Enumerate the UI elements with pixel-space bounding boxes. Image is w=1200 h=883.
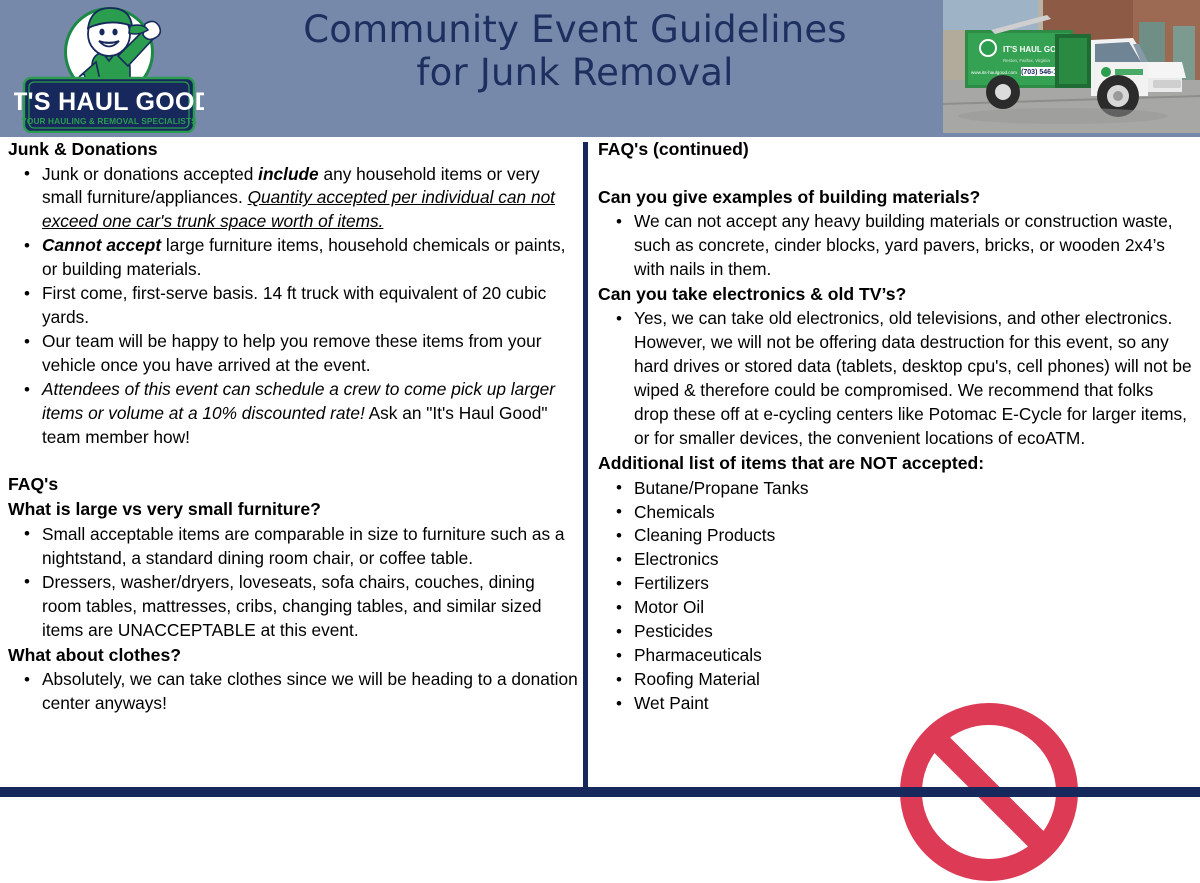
bottom-rule <box>0 787 1200 797</box>
text: Junk or donations accepted <box>42 164 258 184</box>
bold-italic-text: include <box>258 164 319 184</box>
faq-answer-list: Small acceptable items are comparable in… <box>8 523 578 643</box>
list-item: Junk or donations accepted include any h… <box>42 163 578 235</box>
company-logo: IT'S HAUL GOOD YOUR HAULING & REMOVAL SP… <box>14 0 204 133</box>
list-item: Attendees of this event can schedule a c… <box>42 378 578 450</box>
not-accepted-list: Butane/Propane TanksChemicalsCleaning Pr… <box>598 477 1192 717</box>
list-item: Cannot accept large furniture items, hou… <box>42 234 578 282</box>
page-title-line-2: for Junk Removal <box>210 51 940 94</box>
content-area: Junk & Donations Junk or donations accep… <box>0 137 1200 792</box>
list-item: Our team will be happy to help you remov… <box>42 330 578 378</box>
list-item: Cleaning Products <box>634 524 1192 548</box>
text: Our team will be happy to help you remov… <box>42 331 541 375</box>
junk-donations-list: Junk or donations accepted include any h… <box>8 163 578 450</box>
svg-text:YOUR HAULING & REMOVAL SPECIAL: YOUR HAULING & REMOVAL SPECIALISTS <box>21 116 197 126</box>
right-faq-group: Can you give examples of building materi… <box>598 185 1192 452</box>
list-item: Small acceptable items are comparable in… <box>42 523 578 571</box>
right-column: FAQ's (continued) Can you give examples … <box>598 137 1192 716</box>
faq-question: What about clothes? <box>8 643 578 669</box>
list-item: Butane/Propane Tanks <box>634 477 1192 501</box>
faq-answer-list: Yes, we can take old electronics, old te… <box>598 307 1192 451</box>
faq-answer-list: We can not accept any heavy building mat… <box>598 210 1192 282</box>
list-item: Pesticides <box>634 620 1192 644</box>
right-spacer <box>598 163 1192 185</box>
faq-question: What is large vs very small furniture? <box>8 497 578 523</box>
page-title-line-1: Community Event Guidelines <box>210 8 940 51</box>
page-header: IT'S HAUL GOOD YOUR HAULING & REMOVAL SP… <box>0 0 1200 137</box>
list-item: Chemicals <box>634 501 1192 525</box>
svg-text:www.its-haulgood.com: www.its-haulgood.com <box>971 70 1017 75</box>
left-faq-group: What is large vs very small furniture?Sm… <box>8 497 578 716</box>
left-column: Junk & Donations Junk or donations accep… <box>8 137 578 716</box>
list-item: First come, first-serve basis. 14 ft tru… <box>42 282 578 330</box>
list-item: We can not accept any heavy building mat… <box>634 210 1192 282</box>
list-item: Absolutely, we can take clothes since we… <box>42 668 578 716</box>
column-divider <box>583 142 588 790</box>
list-item: Electronics <box>634 548 1192 572</box>
text: First come, first-serve basis. 14 ft tru… <box>42 283 546 327</box>
faq-continued-heading: FAQ's (continued) <box>598 137 1192 163</box>
not-accepted-heading: Additional list of items that are NOT ac… <box>598 451 1192 477</box>
list-item: Yes, we can take old electronics, old te… <box>634 307 1192 451</box>
faq-answer-list: Absolutely, we can take clothes since we… <box>8 668 578 716</box>
faq-heading: FAQ's <box>8 472 578 498</box>
svg-text:IT'S HAUL GOOD: IT'S HAUL GOOD <box>14 88 204 116</box>
list-item: Roofing Material <box>634 668 1192 692</box>
left-spacer <box>8 450 578 472</box>
page-title: Community Event Guidelines for Junk Remo… <box>210 8 940 95</box>
truck-photo: IT'S HAUL GOOD Reston, Fairfax, Virginia… <box>943 0 1200 133</box>
list-item: Pharmaceuticals <box>634 644 1192 668</box>
junk-donations-heading: Junk & Donations <box>8 137 578 163</box>
list-item: Fertilizers <box>634 572 1192 596</box>
svg-text:Reston, Fairfax, Virginia: Reston, Fairfax, Virginia <box>1003 58 1050 63</box>
faq-question: Can you take electronics & old TV’s? <box>598 282 1192 308</box>
list-item: Motor Oil <box>634 596 1192 620</box>
faq-question: Can you give examples of building materi… <box>598 185 1192 211</box>
bold-italic-text: Cannot accept <box>42 235 161 255</box>
list-item: Dressers, washer/dryers, loveseats, sofa… <box>42 571 578 643</box>
